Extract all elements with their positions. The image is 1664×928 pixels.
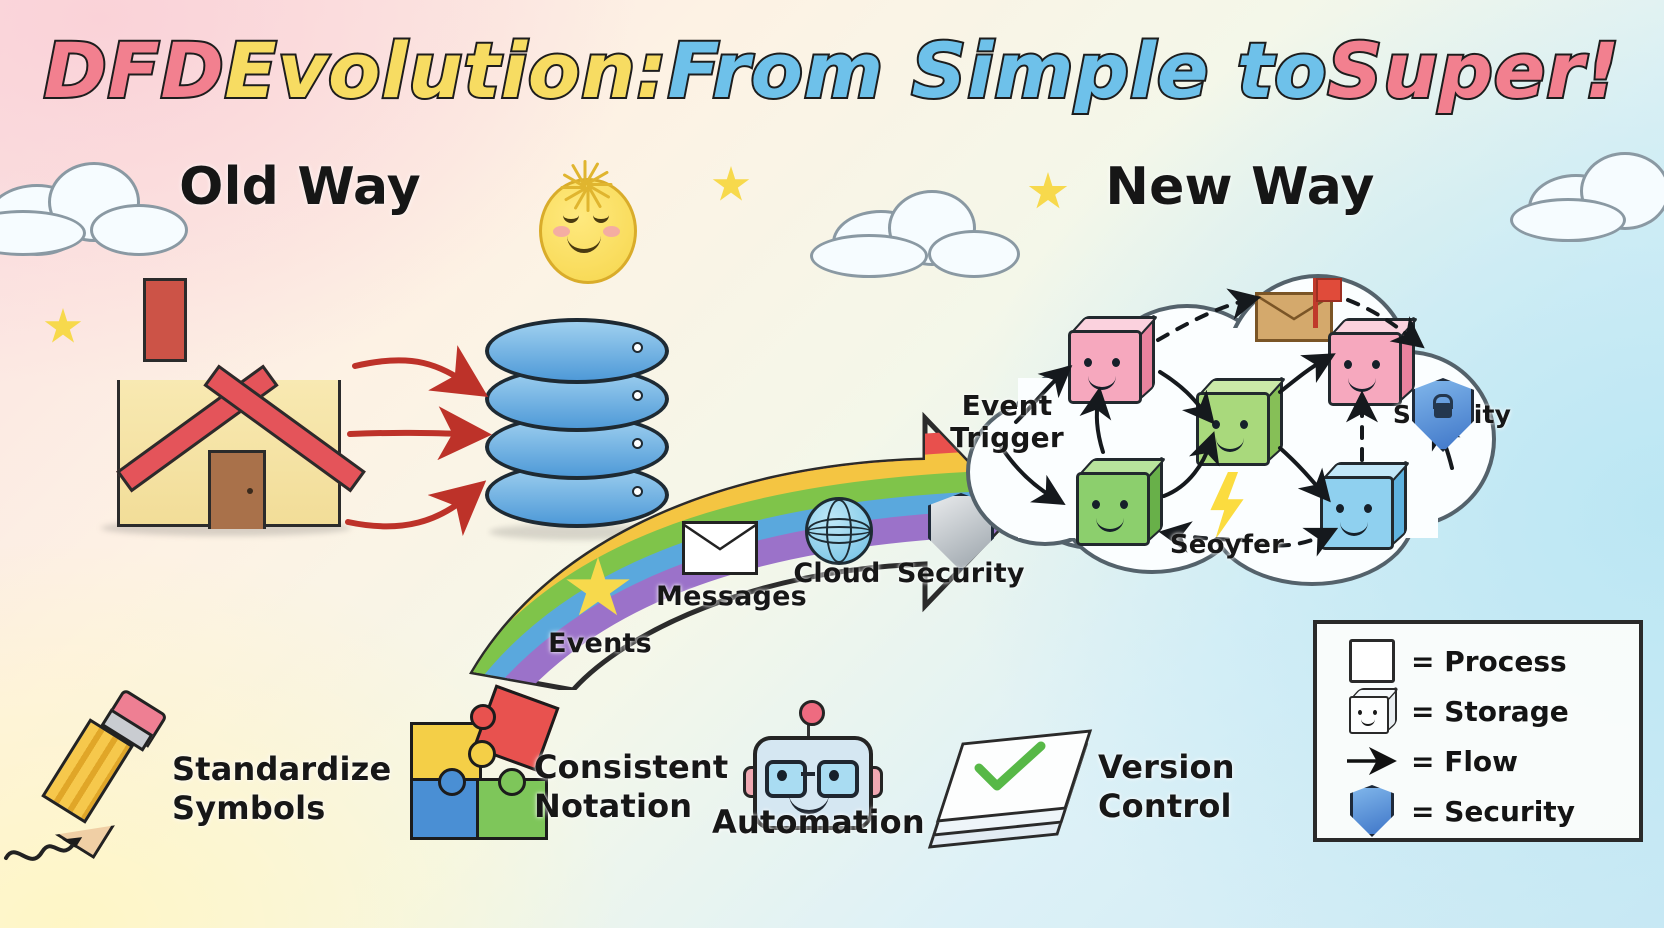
star-decor-1 xyxy=(44,308,82,346)
node-cube-pink-top-right xyxy=(1328,318,1412,402)
arrow-icon xyxy=(1341,752,1403,770)
node-cube-green-bottom-left xyxy=(1076,458,1160,542)
square-icon xyxy=(1341,639,1403,683)
legend-row-storage: = Storage xyxy=(1341,686,1639,736)
legend-row-process: = Process xyxy=(1341,636,1639,686)
legend-label-flow: = Flow xyxy=(1411,745,1518,778)
node-cube-green-center xyxy=(1196,378,1280,462)
legend: = Process = Storage xyxy=(1313,620,1643,842)
legend-label-storage: = Storage xyxy=(1411,695,1569,728)
rainbow-label-cloud: Cloud xyxy=(788,560,886,588)
title-part-2: Evolution: xyxy=(225,26,668,115)
puzzle-icon xyxy=(402,686,552,826)
shield-icon xyxy=(1341,785,1403,837)
feature-label-standardize-symbols: Standardize Symbols xyxy=(172,750,364,828)
title-part-4: Super! xyxy=(1327,26,1620,115)
legend-row-flow: = Flow xyxy=(1341,736,1639,786)
documents-check-icon xyxy=(935,718,1085,838)
messages-envelope-icon xyxy=(682,521,758,575)
serverless-label: Seoyfer xyxy=(1162,532,1292,559)
legend-label-security: = Security xyxy=(1411,795,1575,828)
feature-label-automation: Automation xyxy=(712,806,912,840)
cube-icon xyxy=(1341,688,1403,734)
node-cube-blue-bottom-right xyxy=(1320,462,1404,546)
rainbow-label-messages: Messages xyxy=(656,583,806,611)
pencil-icon xyxy=(42,698,192,858)
cloud-globe-icon xyxy=(805,497,873,565)
house-icon xyxy=(95,268,385,530)
feature-label-version-control: Version Control xyxy=(1098,748,1278,826)
page-title: DFD Evolution: From Simple to Super! xyxy=(0,26,1664,115)
star-decor-2 xyxy=(712,166,750,204)
sun-smiley-icon xyxy=(505,148,665,308)
rainbow-label-events: Events xyxy=(538,630,662,658)
legend-row-security: = Security xyxy=(1341,786,1639,836)
illustration-canvas: DFD Evolution: From Simple to Super! xyxy=(0,0,1664,928)
node-cube-pink-top-left xyxy=(1068,316,1152,400)
heading-old-way: Old Way xyxy=(150,160,450,215)
cloud-decor-top-right xyxy=(1510,150,1664,238)
title-part-1: DFD xyxy=(44,26,225,115)
event-trigger-label: Event Trigger xyxy=(942,390,1072,454)
heading-new-way: New Way xyxy=(1090,160,1390,215)
legend-label-process: = Process xyxy=(1411,645,1567,678)
star-decor-3 xyxy=(1028,172,1068,212)
title-part-3: From Simple to xyxy=(668,26,1328,115)
